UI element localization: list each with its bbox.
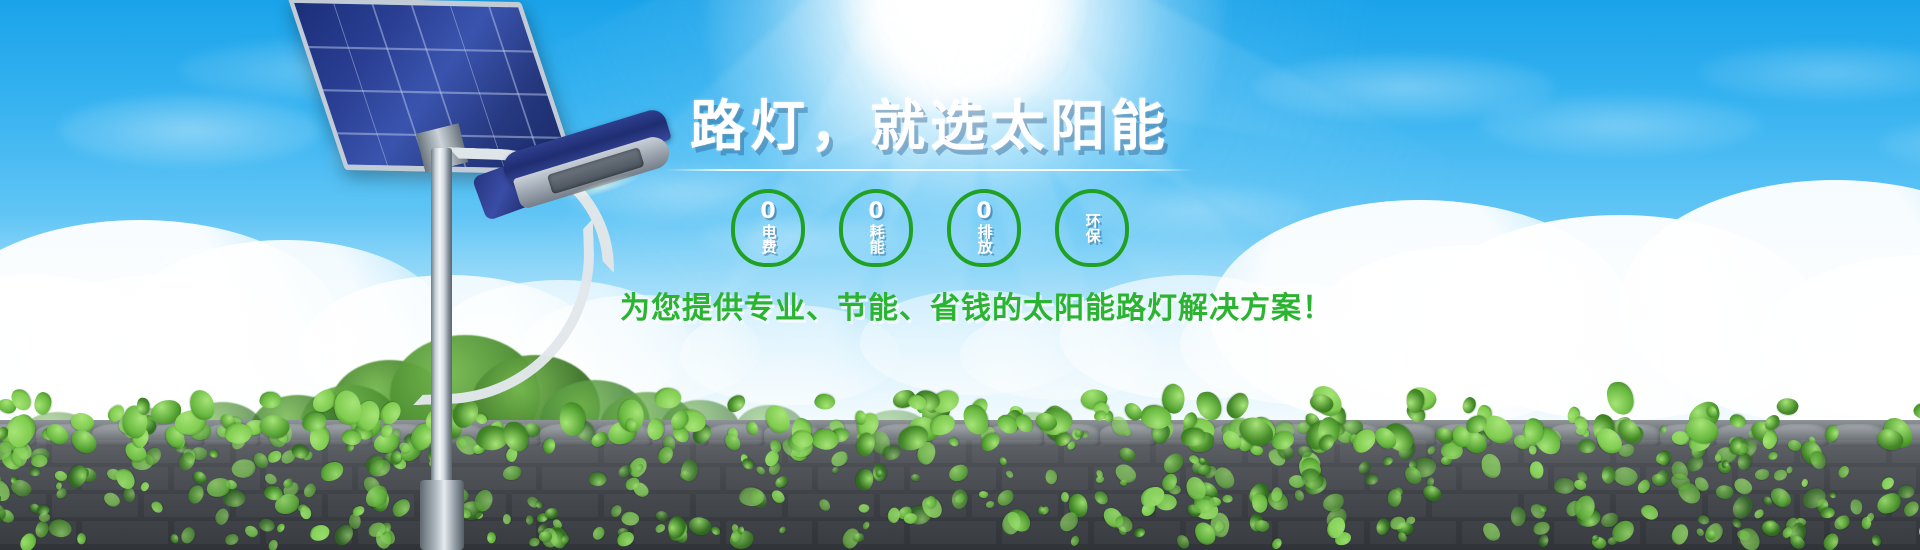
badge-value: 0 bbox=[976, 201, 991, 223]
title-divider bbox=[665, 169, 1195, 171]
badge-label: 排放 bbox=[976, 224, 991, 254]
feature-badge-4: 环保 bbox=[1055, 189, 1129, 267]
wall-brick bbox=[910, 521, 996, 544]
wall-brick bbox=[1340, 494, 1426, 517]
page-title: 路灯，就选太阳能 bbox=[620, 96, 1240, 157]
badge-label: 环保 bbox=[1084, 213, 1099, 243]
wall-brick bbox=[1064, 440, 1150, 463]
wall-brick bbox=[1278, 521, 1364, 544]
feature-badge-1: 0电费 bbox=[731, 189, 805, 267]
cloud-wisp bbox=[1700, 45, 1920, 100]
feature-badge-2: 0耗能 bbox=[839, 189, 913, 267]
badge-value: 0 bbox=[868, 201, 883, 223]
badge-label: 耗能 bbox=[868, 224, 883, 254]
vine-leaf bbox=[875, 469, 882, 477]
wall-brick bbox=[82, 521, 168, 544]
badge-label: 电费 bbox=[760, 224, 775, 254]
lamp-pole-base bbox=[420, 480, 464, 550]
solar-cell-line bbox=[323, 89, 548, 95]
badge-value: 0 bbox=[760, 201, 775, 223]
banner-copy: 路灯，就选太阳能 0电费0耗能0排放环保 为您提供专业、节能、省钱的太阳能路灯解… bbox=[620, 96, 1240, 327]
cloud-wisp bbox=[60, 95, 320, 165]
solar-cell-line bbox=[308, 46, 533, 52]
feature-badge-3: 0排放 bbox=[947, 189, 1021, 267]
solar-street-lamp-banner: 路灯，就选太阳能 0电费0耗能0排放环保 为您提供专业、节能、省钱的太阳能路灯解… bbox=[0, 0, 1920, 550]
vine-leaf bbox=[171, 534, 179, 543]
wall-brick bbox=[1432, 494, 1518, 517]
cloud-wisp bbox=[1480, 95, 1760, 155]
feature-badge-list: 0电费0耗能0排放环保 bbox=[620, 189, 1240, 267]
banner-subtitle: 为您提供专业、节能、省钱的太阳能路灯解决方案！ bbox=[620, 283, 1240, 327]
solar-cells bbox=[294, 3, 518, 8]
